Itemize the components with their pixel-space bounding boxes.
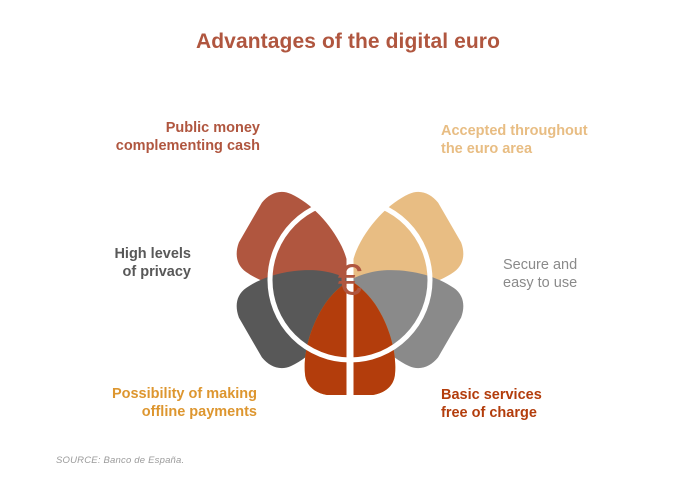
infographic-canvas: Advantages of the digital euro bbox=[0, 0, 696, 494]
label-offline-payments: Possibility of making offline payments bbox=[30, 385, 257, 421]
label-basic-services-free-of-charge: Basic services free of charge bbox=[441, 386, 641, 422]
label-high-levels-of-privacy: High levels of privacy bbox=[36, 245, 191, 281]
label-secure-easy-to-use: Secure and easy to use bbox=[503, 256, 673, 292]
label-accepted-throughout-euro-area: Accepted throughout the euro area bbox=[441, 122, 671, 158]
source-attribution: SOURCE: Banco de España. bbox=[56, 455, 184, 466]
euro-symbol-icon: € bbox=[338, 256, 362, 305]
page-title: Advantages of the digital euro bbox=[0, 30, 696, 54]
label-public-money: Public money complementing cash bbox=[36, 119, 260, 155]
